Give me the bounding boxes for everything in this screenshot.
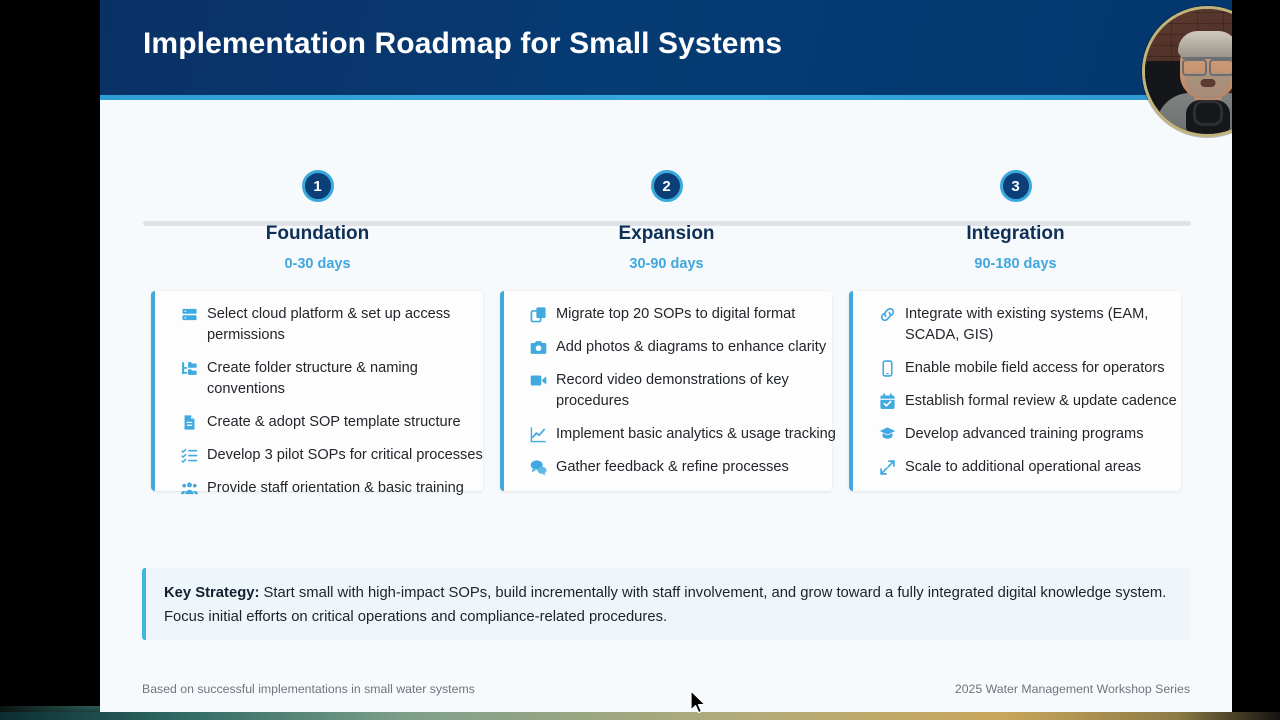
task-item: Add photos & diagrams to enhance clarity (500, 337, 846, 358)
database-icon (181, 306, 198, 323)
phase-step-badge-3: 3 (1000, 170, 1032, 202)
letterbox-right (1232, 0, 1280, 720)
phase-duration-1: 0-30 days (143, 256, 492, 272)
task-text: Gather feedback & refine processes (556, 457, 789, 478)
task-text: Provide staff orientation & basic traini… (207, 478, 464, 499)
task-item: Develop 3 pilot SOPs for critical proces… (151, 445, 497, 466)
task-text: Develop 3 pilot SOPs for critical proces… (207, 445, 483, 466)
task-text: Add photos & diagrams to enhance clarity (556, 337, 826, 358)
phase-column-2: 2 Expansion 30-90 days (492, 100, 841, 272)
task-text: Enable mobile field access for operators (905, 358, 1165, 379)
task-list-3: Integrate with existing systems (EAM, SC… (849, 304, 1195, 490)
chart-line-icon (530, 426, 547, 443)
key-strategy-callout: Key Strategy: Start small with high-impa… (142, 568, 1190, 640)
letterbox-left (0, 0, 100, 720)
task-text: Implement basic analytics & usage tracki… (556, 424, 836, 445)
task-item: Enable mobile field access for operators (849, 358, 1195, 379)
task-item: Integrate with existing systems (EAM, SC… (849, 304, 1195, 346)
copy-files-icon (530, 306, 547, 323)
task-item: Select cloud platform & set up access pe… (151, 304, 497, 346)
task-item: Migrate top 20 SOPs to digital format (500, 304, 846, 325)
slide-footer: Based on successful implementations in s… (100, 682, 1232, 704)
task-text: Record video demonstrations of key proce… (556, 370, 838, 412)
task-text: Create folder structure & naming convent… (207, 358, 489, 400)
phase-column-3: 3 Integration 90-180 days (841, 100, 1190, 272)
webcam-person-hair (1178, 31, 1238, 57)
footer-source-note: Based on successful implementations in s… (142, 682, 475, 696)
comments-icon (530, 459, 547, 476)
phase-step-badge-1: 1 (302, 170, 334, 202)
video-bottom-band (0, 712, 1280, 720)
graduate-icon (879, 426, 896, 443)
key-strategy-text: Start small with high-impact SOPs, build… (164, 585, 1166, 625)
folder-tree-icon (181, 360, 198, 377)
phase-duration-3: 90-180 days (841, 256, 1190, 272)
phase-duration-2: 30-90 days (492, 256, 841, 272)
checklist-icon (181, 447, 198, 464)
users-icon (181, 480, 198, 497)
task-text: Develop advanced training programs (905, 424, 1144, 445)
task-text: Establish formal review & update cadence (905, 391, 1177, 412)
task-list-1: Select cloud platform & set up access pe… (151, 304, 497, 511)
task-text: Create & adopt SOP template structure (207, 412, 461, 433)
task-item: Create folder structure & naming convent… (151, 358, 497, 400)
task-text: Select cloud platform & set up access pe… (207, 304, 489, 346)
task-item: Record video demonstrations of key proce… (500, 370, 846, 412)
webcam-person-mouth (1200, 79, 1215, 87)
key-strategy-label: Key Strategy: (164, 585, 259, 601)
key-strategy-body: Key Strategy: Start small with high-impa… (146, 568, 1190, 629)
phase-step-badge-2: 2 (651, 170, 683, 202)
task-item: Create & adopt SOP template structure (151, 412, 497, 433)
task-text: Scale to additional operational areas (905, 457, 1141, 478)
task-text: Integrate with existing systems (EAM, SC… (905, 304, 1187, 346)
task-text: Migrate top 20 SOPs to digital format (556, 304, 795, 325)
phase-column-1: 1 Foundation 0-30 days (143, 100, 492, 272)
microphone-ring (1193, 100, 1223, 126)
webcam-person-glasses (1182, 57, 1234, 71)
task-item: Develop advanced training programs (849, 424, 1195, 445)
footer-series-note: 2025 Water Management Workshop Series (955, 682, 1190, 696)
link-icon (879, 306, 896, 323)
task-item: Implement basic analytics & usage tracki… (500, 424, 846, 445)
phase-name-3: Integration (841, 223, 1190, 245)
expand-arrows-icon (879, 459, 896, 476)
presentation-slide: Implementation Roadmap for Small Systems… (100, 0, 1232, 714)
document-icon (181, 414, 198, 431)
video-icon (530, 372, 547, 389)
camera-icon (530, 339, 547, 356)
task-list-2: Migrate top 20 SOPs to digital format Ad… (500, 304, 846, 490)
task-item: Scale to additional operational areas (849, 457, 1195, 478)
screen-capture: Implementation Roadmap for Small Systems… (0, 0, 1280, 720)
phase-name-2: Expansion (492, 223, 841, 245)
phase-name-1: Foundation (143, 223, 492, 245)
task-item: Establish formal review & update cadence (849, 391, 1195, 412)
calendar-check-icon (879, 393, 896, 410)
task-item: Provide staff orientation & basic traini… (151, 478, 497, 499)
task-item: Gather feedback & refine processes (500, 457, 846, 478)
mobile-icon (879, 360, 896, 377)
page-title: Implementation Roadmap for Small Systems (143, 27, 782, 61)
